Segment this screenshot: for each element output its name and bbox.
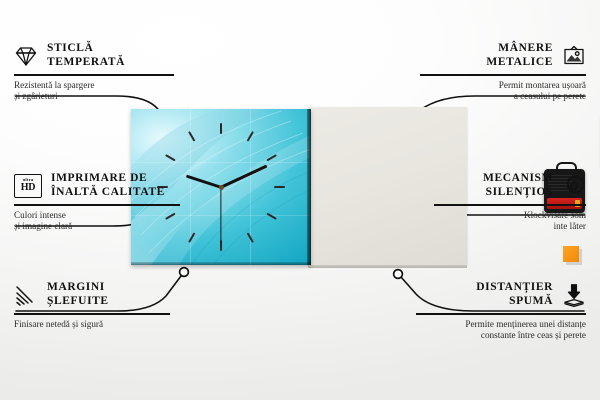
feature-desc: Rezistentă la spargere și zgârieturi [14, 80, 174, 103]
clock-tick [220, 123, 222, 187]
feature-desc: Permit montarea ușoară a ceasului pe per… [420, 80, 586, 103]
feature-rule [434, 204, 586, 206]
feature-tempered-glass: STICLĂ TEMPERATĂ Rezistentă la spargere … [14, 42, 174, 103]
feature-rule [416, 313, 586, 315]
product-image [131, 107, 467, 271]
infographic-stage: STICLĂ TEMPERATĂ Rezistentă la spargere … [0, 0, 600, 400]
feature-title: MECANISM SILENȚIOS [483, 172, 553, 199]
ultra-hd-icon: ultraHD [14, 174, 42, 198]
feature-polished-edges: MARGINI ȘLEFUITE Finisare netedă și sigu… [14, 281, 170, 330]
clock-center-cap [219, 185, 224, 190]
feature-rule [14, 204, 180, 206]
feature-high-quality-print: ultraHD IMPRIMARE DE ÎNALTĂ CALITATE Cul… [14, 172, 180, 233]
feature-rule [14, 74, 174, 76]
gear-icon [562, 174, 586, 198]
feature-desc: Permite menținerea unei distanțe constan… [416, 319, 586, 342]
feature-rule [420, 74, 586, 76]
feature-metal-handles: MÂNERE METALICE Permit montarea ușoară a… [420, 42, 586, 103]
feature-rule [14, 313, 170, 315]
feature-title: IMPRIMARE DE ÎNALTĂ CALITATE [51, 172, 165, 199]
feature-title: DISTANȚIER SPUMĂ [476, 281, 553, 308]
feature-title: MARGINI ȘLEFUITE [47, 281, 109, 308]
feature-title: STICLĂ TEMPERATĂ [47, 42, 125, 69]
picture-frame-icon [562, 44, 586, 68]
diamond-icon [14, 44, 38, 68]
arrow-down-layer-icon [562, 283, 586, 307]
foam-spacer-block [563, 246, 579, 262]
feature-desc: Finisare netedă și sigură [14, 319, 170, 331]
feature-desc: Klockvisare som inte låter [434, 210, 586, 233]
feature-silent-mechanism: MECANISM SILENȚIOS Klockvisare som inte … [434, 172, 586, 233]
feature-title: MÂNERE METALICE [486, 42, 553, 69]
polished-edges-icon [14, 283, 38, 307]
feature-desc: Culori intense și imagine clară [14, 210, 180, 233]
clock-tick [221, 186, 285, 188]
feature-foam-spacer: DISTANȚIER SPUMĂ Permite menținerea unei… [416, 281, 586, 342]
